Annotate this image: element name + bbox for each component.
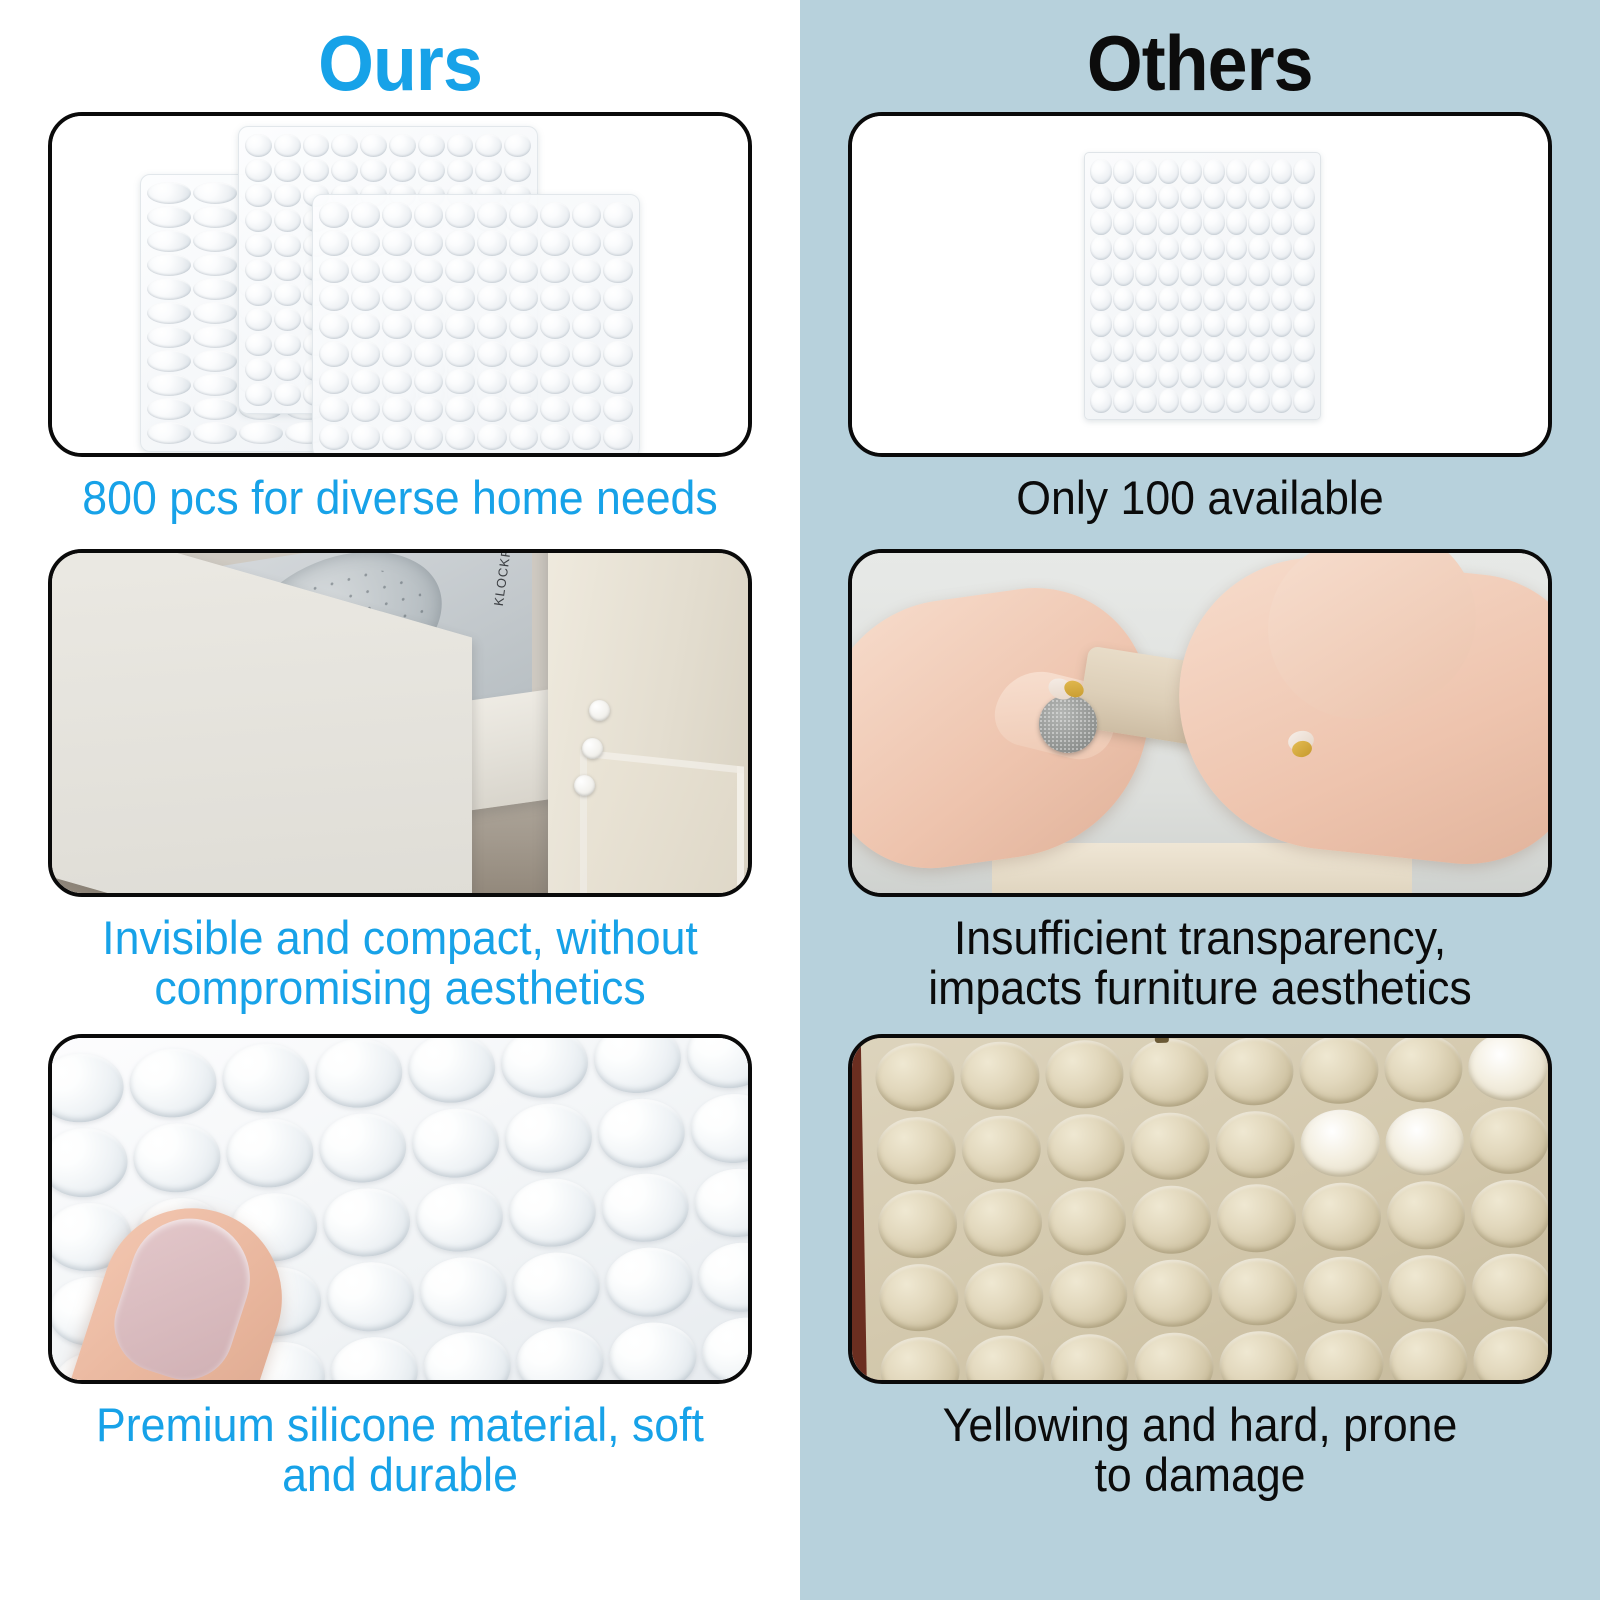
bumper-sheet-front <box>312 194 640 457</box>
bumper-dot <box>147 398 191 420</box>
ours-row-1-photo <box>48 112 752 457</box>
ours-row-1-caption: 800 pcs for diverse home needs <box>34 473 766 523</box>
others-row-3: Yellowing and hard, prone to damage <box>800 1034 1600 1500</box>
comparison-infographic: Ours <box>0 0 1600 1600</box>
others-row-3-photo <box>848 1034 1552 1384</box>
bumper-dot <box>193 230 237 252</box>
grey-felt-pad <box>1039 695 1097 753</box>
bumper-dot <box>147 302 191 324</box>
bumper-dot <box>193 350 237 372</box>
ours-row-2: 45 KLOCKREN Invisible and compact, witho… <box>0 549 800 1013</box>
bumper-dot <box>147 254 191 276</box>
right-hand <box>1164 549 1552 876</box>
others-row-3-caption: Yellowing and hard, prone to damage <box>834 1400 1566 1500</box>
clear-bumper-dot <box>589 700 610 721</box>
clear-bumper-dot <box>582 738 603 759</box>
bumper-dot <box>147 374 191 396</box>
ours-row-3-caption: Premium silicone material, soft and dura… <box>34 1400 766 1500</box>
hands-felt-pad-scene <box>852 553 1548 893</box>
single-bumper-sheet <box>1084 152 1321 420</box>
bumper-dot <box>147 350 191 372</box>
bumper-dot <box>147 182 191 204</box>
yellowed-pads-scene <box>852 1038 1548 1380</box>
bumper-dot <box>193 182 237 204</box>
ours-row-2-photo: 45 KLOCKREN <box>48 549 752 897</box>
bumper-dot <box>193 278 237 300</box>
bumper-dot <box>193 422 237 444</box>
cabinet-door <box>548 549 752 897</box>
column-title-others: Others <box>1087 24 1313 102</box>
bumper-sheets-stage <box>52 116 748 453</box>
silicone-dome <box>48 1051 125 1124</box>
bumper-dot <box>147 422 191 444</box>
others-row-1-caption: Only 100 available <box>834 473 1566 523</box>
bumper-dot <box>147 206 191 228</box>
single-sheet-stage <box>852 116 1548 453</box>
ours-row-2-caption: Invisible and compact, without compromis… <box>34 913 766 1013</box>
others-row-1-photo <box>848 112 1552 457</box>
ours-row-3-photo <box>48 1034 752 1384</box>
ours-row-1: 800 pcs for diverse home needs <box>0 112 800 523</box>
cabinet-scene: 45 KLOCKREN <box>52 553 748 893</box>
ours-row-3: Premium silicone material, soft and dura… <box>0 1034 800 1500</box>
bumper-dot <box>193 398 237 420</box>
bumper-dot <box>147 278 191 300</box>
clear-bumper-dot <box>574 775 595 796</box>
yellowed-pad-sheet <box>861 1034 1552 1384</box>
yellowed-dome <box>875 1043 955 1112</box>
bumper-dot <box>147 326 191 348</box>
right-forearm <box>1241 549 1503 746</box>
bumper-dot <box>147 230 191 252</box>
bumper-dot <box>193 374 237 396</box>
others-row-1: Only 100 available <box>800 112 1600 523</box>
bumper-dot <box>1090 159 1112 184</box>
bumper-dot <box>193 206 237 228</box>
silicone-pads-scene <box>52 1038 748 1380</box>
bumper-dot <box>193 254 237 276</box>
bumper-dot <box>193 302 237 324</box>
column-title-ours: Ours <box>318 24 482 102</box>
column-others: Others <box>800 0 1600 1600</box>
column-ours: Ours <box>0 0 800 1600</box>
others-row-2-caption: Insufficient transparency, impacts furni… <box>834 913 1566 1013</box>
others-row-2-photo <box>848 549 1552 897</box>
others-row-2: Insufficient transparency, impacts furni… <box>800 549 1600 1013</box>
cabinet-door-panel <box>580 749 744 897</box>
bumper-dot <box>239 422 283 444</box>
bumper-dot <box>193 326 237 348</box>
